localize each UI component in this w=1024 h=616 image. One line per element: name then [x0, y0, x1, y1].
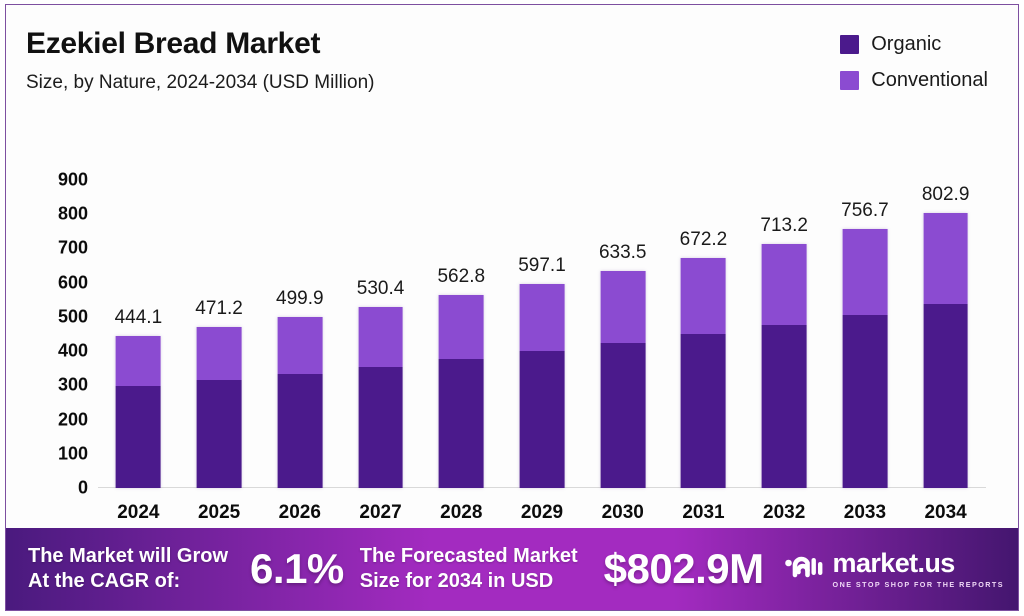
legend-item-conventional[interactable]: Conventional: [840, 69, 988, 92]
bar-value-label: 530.4: [357, 278, 405, 300]
legend-label: Organic: [871, 33, 941, 56]
plot-area: 9008007006005004003002001000 444.1471.24…: [20, 123, 998, 528]
y-axis-tick-100: 100: [34, 443, 88, 464]
bar-stack: [843, 229, 888, 488]
y-axis-tick-800: 800: [34, 204, 88, 225]
footer-bar: The Market will Grow At the CAGR of: 6.1…: [6, 528, 1018, 610]
forecast-caption-line2: Size for 2034 in USD: [360, 569, 578, 594]
chart-header: Ezekiel Bread Market Size, by Nature, 20…: [6, 5, 1018, 123]
bar-column-2025[interactable]: 471.2: [197, 298, 242, 488]
bar-segment-conventional[interactable]: [681, 258, 726, 334]
x-axis-label-2025: 2025: [198, 502, 240, 524]
forecast-caption: The Forecasted Market Size for 2034 in U…: [360, 544, 578, 594]
bar-column-2027[interactable]: 530.4: [358, 278, 403, 489]
bar-stack: [116, 336, 161, 488]
infographic-frame: Ezekiel Bread Market Size, by Nature, 20…: [5, 4, 1019, 611]
bar-segment-conventional[interactable]: [197, 327, 242, 380]
bar-value-label: 633.5: [599, 242, 647, 264]
bar-column-2034[interactable]: 802.9: [923, 184, 968, 488]
cagr-caption: The Market will Grow At the CAGR of:: [28, 544, 228, 594]
bar-stack: [600, 271, 645, 488]
plot-wrapper: 9008007006005004003002001000 444.1471.24…: [6, 123, 1018, 528]
bars-area: 444.1471.2499.9530.4562.8597.1633.5672.2…: [98, 123, 986, 528]
legend-item-organic[interactable]: Organic: [840, 33, 988, 56]
legend-swatch-icon-conventional: [840, 71, 859, 90]
bar-segment-conventional[interactable]: [843, 229, 888, 315]
chart-legend: OrganicConventional: [840, 33, 988, 92]
cagr-caption-line1: The Market will Grow: [28, 544, 228, 569]
bar-segment-organic[interactable]: [923, 304, 968, 488]
x-axis-label-2027: 2027: [359, 502, 401, 524]
bar-value-label: 672.2: [680, 229, 728, 251]
y-axis-tick-400: 400: [34, 341, 88, 362]
bar-column-2032[interactable]: 713.2: [762, 215, 807, 488]
x-axis-label-2032: 2032: [763, 502, 805, 524]
x-axis-label-2031: 2031: [682, 502, 724, 524]
bar-value-label: 471.2: [195, 298, 243, 320]
bar-value-label: 802.9: [922, 184, 970, 206]
cagr-value: 6.1%: [250, 545, 344, 593]
x-axis-label-2026: 2026: [279, 502, 321, 524]
bar-segment-conventional[interactable]: [600, 271, 645, 343]
y-axis-tick-700: 700: [34, 238, 88, 259]
bar-value-label: 713.2: [760, 215, 808, 237]
y-axis-tick-600: 600: [34, 272, 88, 293]
bar-value-label: 444.1: [115, 307, 163, 329]
x-axis-label-2024: 2024: [117, 502, 159, 524]
bar-column-2033[interactable]: 756.7: [843, 200, 888, 488]
bar-stack: [277, 317, 322, 488]
bar-stack: [762, 244, 807, 488]
bar-value-label: 756.7: [841, 200, 889, 222]
y-axis-tick-500: 500: [34, 306, 88, 327]
x-axis-labels: 2024202520262027202820292030203120322033…: [98, 494, 986, 528]
forecast-caption-line1: The Forecasted Market: [360, 544, 578, 569]
x-axis-label-2034: 2034: [924, 502, 966, 524]
bar-stack: [681, 258, 726, 488]
bar-stack: [197, 327, 242, 488]
bar-segment-conventional[interactable]: [439, 295, 484, 359]
y-axis-tick-200: 200: [34, 409, 88, 430]
bar-segment-organic[interactable]: [277, 374, 322, 488]
y-axis: 9008007006005004003002001000: [34, 123, 88, 528]
bar-segment-conventional[interactable]: [358, 307, 403, 367]
infographic-root: Ezekiel Bread Market Size, by Nature, 20…: [0, 0, 1024, 616]
bar-stack: [439, 295, 484, 488]
bar-segment-conventional[interactable]: [116, 336, 161, 386]
bar-segment-organic[interactable]: [762, 325, 807, 488]
bar-value-label: 562.8: [437, 266, 485, 288]
bar-column-2028[interactable]: 562.8: [439, 266, 484, 488]
y-axis-tick-900: 900: [34, 170, 88, 191]
bar-stack: [520, 284, 565, 488]
bar-segment-organic[interactable]: [600, 343, 645, 488]
bar-value-label: 499.9: [276, 288, 324, 310]
bar-segment-organic[interactable]: [116, 386, 161, 488]
x-axis-label-2029: 2029: [521, 502, 563, 524]
bar-column-2024[interactable]: 444.1: [116, 307, 161, 488]
bar-segment-organic[interactable]: [439, 359, 484, 488]
brand-text-block: market.us ONE STOP SHOP FOR THE REPORTS: [833, 550, 1004, 589]
bar-column-2029[interactable]: 597.1: [520, 255, 565, 488]
x-axis-label-2028: 2028: [440, 502, 482, 524]
bar-segment-organic[interactable]: [843, 315, 888, 488]
bar-column-2030[interactable]: 633.5: [600, 242, 645, 488]
bar-stack: [923, 213, 968, 488]
bar-segment-organic[interactable]: [681, 334, 726, 488]
cagr-caption-line2: At the CAGR of:: [28, 569, 228, 594]
bar-segment-conventional[interactable]: [923, 213, 968, 304]
x-axis-label-2030: 2030: [602, 502, 644, 524]
y-axis-tick-300: 300: [34, 375, 88, 396]
bar-segment-conventional[interactable]: [277, 317, 322, 374]
market-us-mark-icon: [782, 552, 824, 587]
legend-swatch-icon-organic: [840, 35, 859, 54]
bar-value-label: 597.1: [518, 255, 566, 277]
brand-logo[interactable]: market.us ONE STOP SHOP FOR THE REPORTS: [782, 550, 1004, 589]
bar-segment-conventional[interactable]: [520, 284, 565, 352]
brand-tagline: ONE STOP SHOP FOR THE REPORTS: [833, 580, 1004, 589]
bar-segment-conventional[interactable]: [762, 244, 807, 325]
bar-column-2026[interactable]: 499.9: [277, 288, 322, 488]
bar-segment-organic[interactable]: [197, 380, 242, 488]
bar-column-2031[interactable]: 672.2: [681, 229, 726, 488]
legend-label: Conventional: [871, 69, 988, 92]
brand-name: market.us: [833, 550, 1004, 577]
forecast-value: $802.9M: [604, 545, 764, 593]
bar-stack: [358, 307, 403, 489]
x-axis-label-2033: 2033: [844, 502, 886, 524]
bar-segment-organic[interactable]: [358, 367, 403, 488]
bar-segment-organic[interactable]: [520, 351, 565, 488]
y-axis-tick-0: 0: [34, 478, 88, 499]
